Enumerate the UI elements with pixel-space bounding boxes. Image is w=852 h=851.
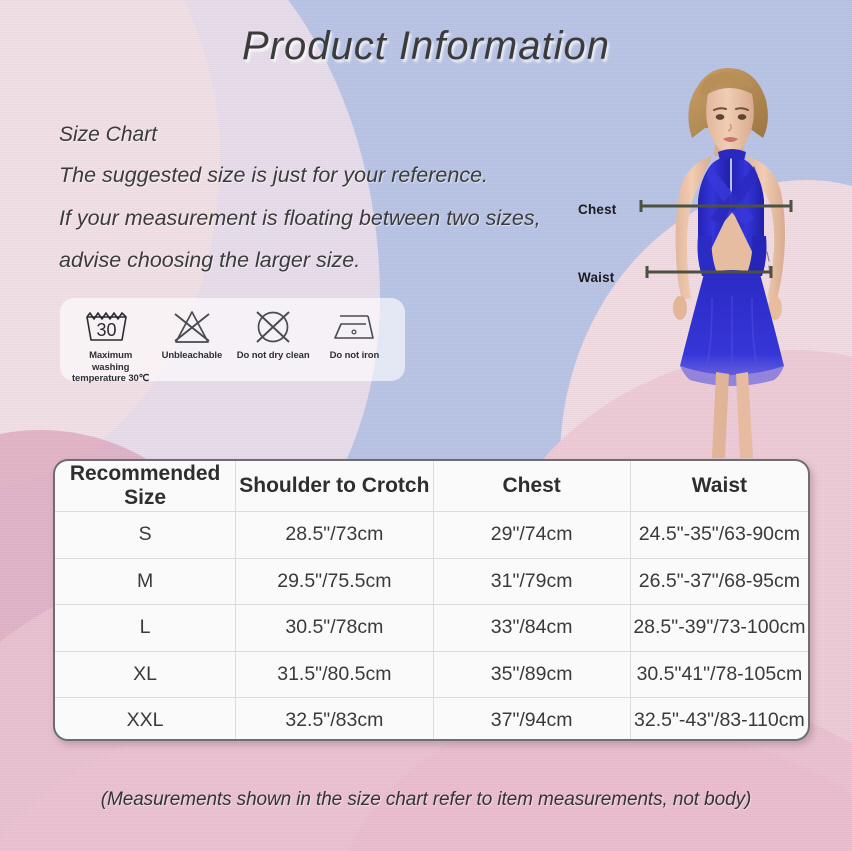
intro-line-3: advise choosing the larger size. xyxy=(59,250,599,272)
table-row: S 28.5"/73cm 29"/74cm 24.5"-35"/63-90cm xyxy=(55,512,808,559)
waist-annotation-label: Waist xyxy=(578,270,615,285)
wash-tub-30-icon: 30 xyxy=(82,307,140,347)
cell-shoulder-to-crotch: 29.5"/75.5cm xyxy=(236,558,433,605)
svg-text:30: 30 xyxy=(96,320,116,340)
cell-chest: 29"/74cm xyxy=(433,512,630,559)
cell-chest: 37"/94cm xyxy=(433,698,630,742)
cell-chest: 31"/79cm xyxy=(433,558,630,605)
care-item-dry-clean: Do not dry clean xyxy=(233,307,314,362)
cell-shoulder-to-crotch: 31.5"/80.5cm xyxy=(236,651,433,698)
care-item-iron: Do not iron xyxy=(314,307,395,362)
page-title-part1: Product xyxy=(242,24,387,68)
care-label-iron: Do not iron xyxy=(330,350,380,362)
product-information-page: ProductInformation Size Chart The sugges… xyxy=(0,0,852,851)
care-label-dry-clean: Do not dry clean xyxy=(237,350,310,362)
cell-chest: 33"/84cm xyxy=(433,605,630,652)
column-header-chest: Chest xyxy=(433,461,630,512)
intro-line-1: The suggested size is just for your refe… xyxy=(59,165,599,187)
no-bleach-icon xyxy=(170,307,214,347)
model-photo xyxy=(612,60,852,460)
cell-shoulder-to-crotch: 30.5"/78cm xyxy=(236,605,433,652)
cell-waist: 30.5"41"/78-105cm xyxy=(630,651,808,698)
cell-size: XL xyxy=(55,651,236,698)
cell-waist: 28.5"-39"/73-100cm xyxy=(630,605,808,652)
cell-size: XXL xyxy=(55,698,236,742)
cell-chest: 35"/89cm xyxy=(433,651,630,698)
page-title-part2: Information xyxy=(399,24,610,68)
care-label-wash: Maximum washing temperature 30℃ xyxy=(70,350,151,385)
no-iron-icon xyxy=(328,307,380,347)
no-dry-clean-icon xyxy=(252,307,294,347)
table-row: M 29.5"/75.5cm 31"/79cm 26.5"-37"/68-95c… xyxy=(55,558,808,605)
cell-waist: 32.5"-43"/83-110cm xyxy=(630,698,808,742)
column-header-shoulder-to-crotch: Shoulder to Crotch xyxy=(236,461,433,512)
size-chart-table: Recommended Size Shoulder to Crotch Ches… xyxy=(53,459,810,741)
intro-line-2: If your measurement is floating between … xyxy=(59,208,599,230)
table-header-row: Recommended Size Shoulder to Crotch Ches… xyxy=(55,461,808,512)
cell-size: S xyxy=(55,512,236,559)
cell-size: M xyxy=(55,558,236,605)
care-label-bleach: Unbleachable xyxy=(162,350,223,362)
care-instructions-panel: 30 Maximum washing temperature 30℃ Unble… xyxy=(60,298,405,381)
footer-note: (Measurements shown in the size chart re… xyxy=(0,789,852,811)
column-header-size: Recommended Size xyxy=(55,461,236,512)
cell-size: L xyxy=(55,605,236,652)
care-item-wash: 30 Maximum washing temperature 30℃ xyxy=(70,307,151,385)
intro-block: Size Chart The suggested size is just fo… xyxy=(59,124,599,272)
cell-shoulder-to-crotch: 32.5"/83cm xyxy=(236,698,433,742)
cell-waist: 26.5"-37"/68-95cm xyxy=(630,558,808,605)
column-header-waist: Waist xyxy=(630,461,808,512)
care-item-bleach: Unbleachable xyxy=(151,307,232,362)
table-row: L 30.5"/78cm 33"/84cm 28.5"-39"/73-100cm xyxy=(55,605,808,652)
table-row: XXL 32.5"/83cm 37"/94cm 32.5"-43"/83-110… xyxy=(55,698,808,742)
cell-waist: 24.5"-35"/63-90cm xyxy=(630,512,808,559)
chest-annotation-label: Chest xyxy=(578,202,617,217)
cell-shoulder-to-crotch: 28.5"/73cm xyxy=(236,512,433,559)
size-chart-heading: Size Chart xyxy=(59,124,599,145)
table-row: XL 31.5"/80.5cm 35"/89cm 30.5"41"/78-105… xyxy=(55,651,808,698)
